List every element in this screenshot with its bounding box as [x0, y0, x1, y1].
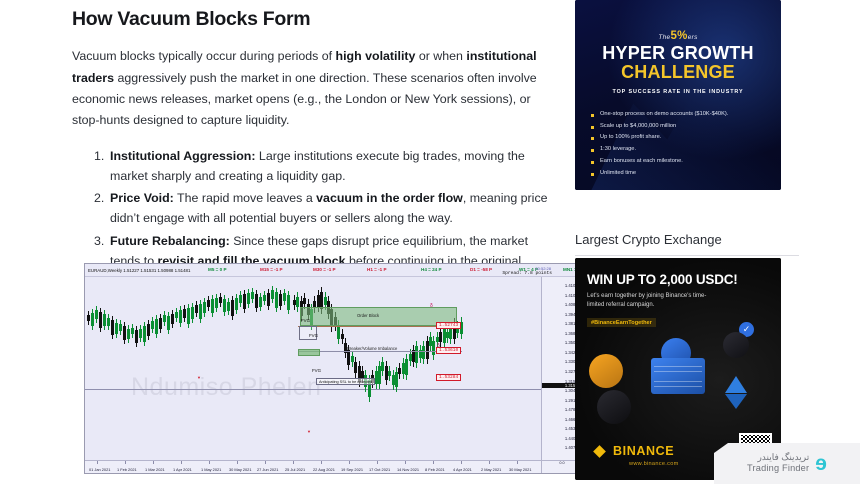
binance-headline: WIN UP TO 2,000 USDC! — [587, 272, 771, 287]
time-tick-mark — [377, 461, 378, 464]
time-tick-label: 1 Feb 2021 — [117, 467, 137, 472]
time-tick-mark — [489, 461, 490, 464]
intro-fragment-4: aggressively push the market in one dire… — [72, 71, 537, 128]
chart-plot-area[interactable]: Ndumiso Phelen Order Block δ 1.52743 FVG… — [85, 277, 541, 460]
order-block-label: Order Block — [357, 313, 379, 318]
time-tick-label: 22 Aug 2021 — [313, 467, 335, 472]
timeframe-indicator-5: D1 = -58 P — [470, 267, 492, 272]
list-item: Institutional Aggression: Large institut… — [94, 146, 557, 186]
time-tick-mark — [461, 461, 462, 464]
timeframe-indicator-2: M30 = -1 P — [313, 267, 336, 272]
time-tick-mark — [237, 461, 238, 464]
trading-chart[interactable]: EURAUD,Weekly 1.51227 1.51531 1.50988 1.… — [84, 263, 583, 474]
ad-feature-item: Earn bonuses at each milestone. — [600, 156, 770, 168]
time-tick-mark — [153, 461, 154, 464]
time-tick-mark — [97, 461, 98, 464]
ad-brand-logo: The5%ers — [586, 30, 770, 42]
time-tick-mark — [293, 461, 294, 464]
intro-fragment-1: high volatility — [336, 49, 416, 63]
ethereum-bottom-icon — [725, 394, 747, 409]
binance-body-text: Let's earn together by joining Binance's… — [587, 292, 707, 311]
fvg-label-2: FVG — [309, 333, 318, 338]
list-item: Price Void: The rapid move leaves a vacu… — [94, 188, 557, 228]
price-tag-1: 1.52743 — [436, 322, 461, 329]
timeframe-indicator-1: M15 = -1 P — [260, 267, 283, 272]
point-lead-1: Price Void: — [110, 191, 174, 205]
time-tick-mark — [125, 461, 126, 464]
point-lead-2: Future Rebalancing: — [110, 234, 230, 248]
intro-fragment-0: Vacuum blocks typically occur during per… — [72, 49, 336, 63]
chart-spread-label: Spread: 7.8 points — [502, 271, 552, 276]
time-tick-label: 30 May 2021 — [509, 467, 532, 472]
time-tick-label: 8 Feb 2021 — [425, 467, 445, 472]
ad-subheadline: TOP SUCCESS RATE IN THE INDUSTRY — [586, 89, 770, 95]
time-tick-mark — [405, 461, 406, 464]
page-root: How Vacuum Blocks Form Vacuum blocks typ… — [0, 0, 860, 484]
time-tick-label: 27 Jun 2021 — [257, 467, 278, 472]
price-tag-3: 1.53284 — [436, 374, 461, 381]
watermark-fa-text: تریدینگ فایندر — [747, 452, 809, 463]
sell-marker-icon: ▼ — [307, 429, 311, 434]
fvg-label-1: FVG — [301, 318, 310, 323]
point-fragment-1-0: The rapid move leaves a — [174, 191, 316, 205]
time-tick-mark — [321, 461, 322, 464]
time-tick-label: 25 Jul 2021 — [285, 467, 305, 472]
time-tick-label: 2 May 2021 — [481, 467, 501, 472]
trading-finder-logo-icon: ɘ — [815, 453, 827, 474]
bitcoin-coin-icon — [589, 354, 623, 388]
ad-headline-line2: CHALLENGE — [586, 63, 770, 82]
ad-headline-line1: HYPER GROWTH — [586, 44, 770, 63]
intro-paragraph: Vacuum blocks typically occur during per… — [72, 46, 557, 131]
time-tick-mark — [517, 461, 518, 464]
ad-brand-big: 5% — [670, 30, 687, 42]
binance-hashtag: #BinanceEarnTogether — [587, 318, 656, 327]
usdc-card-icon — [651, 358, 705, 394]
ad-feature-list: One-stop process on demo accounts ($10K-… — [586, 109, 770, 180]
point-lead-0: Institutional Aggression: — [110, 149, 255, 163]
chart-time-axis[interactable]: 01 Jan 20211 Feb 20211 Mar 20211 Apr 202… — [85, 460, 541, 473]
ad-feature-item: Unlimited time — [600, 168, 770, 180]
chart-divider — [85, 389, 541, 390]
chart-symbol-label: EURAUD,Weekly 1.51227 1.51531 1.50988 1.… — [88, 268, 190, 273]
order-block-lower-line — [298, 326, 458, 327]
timeframe-indicator-4: H4 = 24 P — [421, 267, 442, 272]
ssl-note: Anticipating SSL to be collected — [316, 378, 375, 385]
time-tick-mark — [181, 461, 182, 464]
fvg-label-3: FVG — [312, 368, 321, 373]
time-tick-mark — [209, 461, 210, 464]
time-tick-label: 01 Jan 2021 — [89, 467, 110, 472]
mini-block-zone — [298, 349, 320, 356]
ad-brand-post: ers — [688, 34, 698, 41]
time-tick-label: 30 May 2021 — [229, 467, 252, 472]
sidebar-section-heading: Largest Crypto Exchange — [575, 232, 799, 256]
chart-clock: 20:52:28 — [535, 266, 551, 271]
trading-finder-watermark: تریدینگ فایندر Trading Finder ɘ — [714, 443, 860, 484]
sidebar-column: The5%ers HYPER GROWTH CHALLENGE TOP SUCC… — [575, 0, 860, 484]
breaker-label: Breaker/Volume Imbalance — [347, 346, 397, 351]
delta-marker-icon: δ — [430, 303, 433, 309]
ad-feature-item: 1:30 leverage. — [600, 144, 770, 156]
timeframe-indicator-3: H1 = -1 P — [367, 267, 387, 272]
page-title: How Vacuum Blocks Form — [72, 8, 557, 31]
time-tick-label: 19 Sep 2021 — [341, 467, 363, 472]
time-tick-mark — [349, 461, 350, 464]
solana-coin-icon — [723, 332, 749, 358]
time-tick-label: 1 May 2021 — [201, 467, 221, 472]
chart-watermark: Ndumiso Phelen — [131, 373, 321, 402]
ad-feature-item: One-stop process on demo accounts ($10K-… — [600, 109, 770, 121]
timeframe-indicator-0: M5 = 0 P — [208, 267, 227, 272]
intro-fragment-2: or when — [415, 49, 466, 63]
time-tick-label: 14 Nov 2021 — [397, 467, 419, 472]
ethereum-top-icon — [725, 376, 747, 393]
time-tick-mark — [265, 461, 266, 464]
chart-toolbar: EURAUD,Weekly 1.51227 1.51531 1.50988 1.… — [85, 264, 582, 277]
sell-marker-2-icon: ▼ — [197, 375, 201, 380]
ad-feature-item: Scale up to $4,000,000 million — [600, 121, 770, 133]
binance-logo-text: BINANCE — [613, 444, 674, 458]
xrp-coin-icon — [597, 390, 631, 424]
binance-url: www.binance.com — [629, 461, 679, 467]
time-tick-label: 1 Mar 2021 — [145, 467, 165, 472]
price-tag-2: 1.53610 — [436, 347, 461, 354]
time-tick-label: 4 Apr 2021 — [453, 467, 472, 472]
ad-hyper-growth-challenge[interactable]: The5%ers HYPER GROWTH CHALLENGE TOP SUCC… — [575, 0, 781, 190]
ad-brand-pre: The — [658, 34, 670, 41]
time-tick-mark — [433, 461, 434, 464]
time-tick-label: 17 Oct 2021 — [369, 467, 390, 472]
point-fragment-1-1: vacuum in the order flow — [316, 191, 463, 205]
watermark-en-text: Trading Finder — [747, 463, 809, 475]
ad-feature-item: Up to 100% profit share. — [600, 132, 770, 144]
time-tick-label: 1 Apr 2021 — [173, 467, 192, 472]
